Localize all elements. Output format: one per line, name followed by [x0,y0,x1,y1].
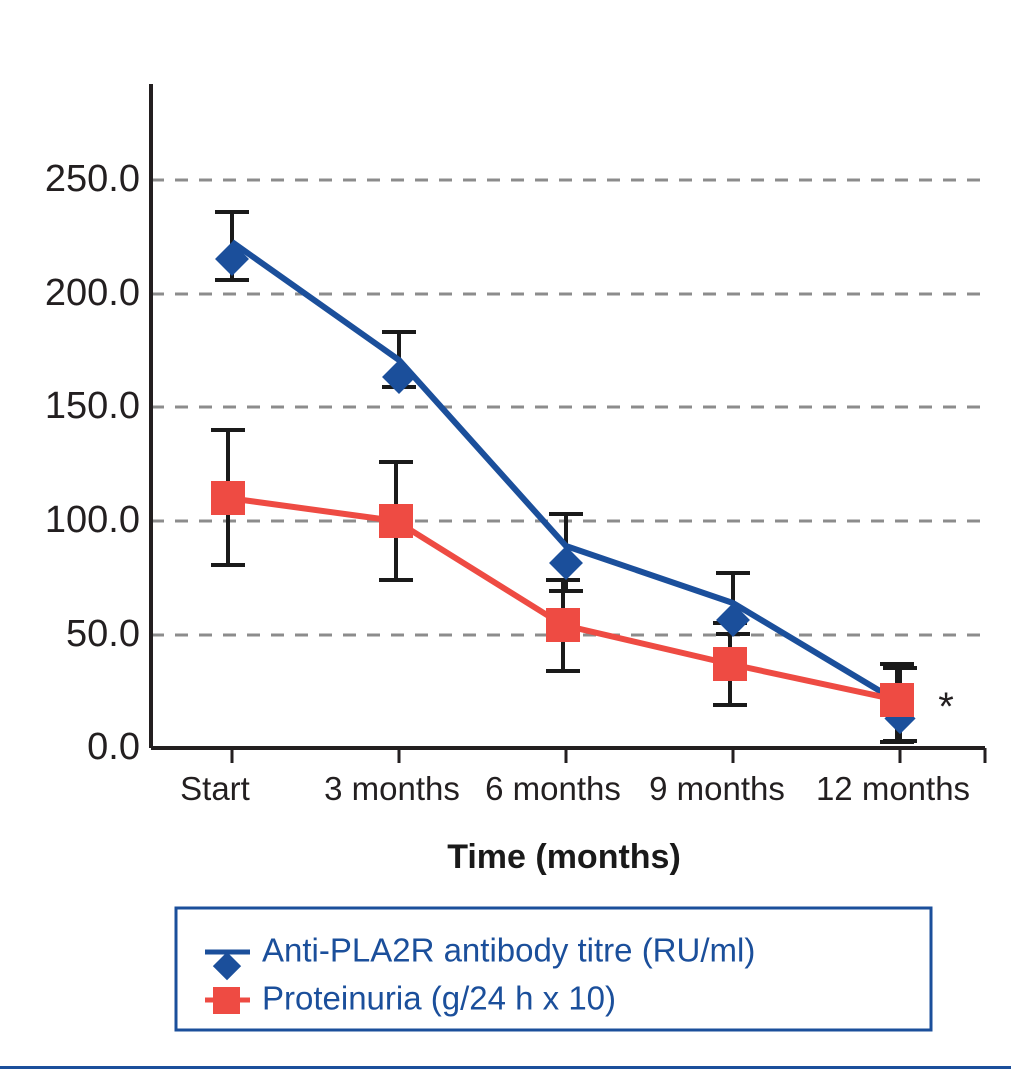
x-tick-label-12-months: 12 months [816,770,970,807]
legend-item-proteinuria[interactable]: Proteinuria (g/24 h x 10) [205,980,616,1017]
data-point-red-12-months[interactable] [880,683,914,717]
x-tick-label-9-months: 9 months [649,770,785,807]
legend-label-proteinuria: Proteinuria (g/24 h x 10) [262,980,616,1017]
chart-legend: Anti-PLA2R antibody titre (RU/ml) Protei… [176,908,931,1030]
series-markers-anti-pla2r [215,242,916,734]
x-tick-label-6-months: 6 months [485,770,621,807]
x-tick-label-start: Start [180,770,250,807]
y-axis-tick-labels: 250.0 200.0 150.0 100.0 50.0 0.0 [45,158,140,768]
significance-asterisk: * [938,685,954,729]
data-point-red-9-months[interactable] [713,647,747,681]
data-point-red-6-months[interactable] [546,608,580,642]
chart-figure: 250.0 200.0 150.0 100.0 50.0 0.0 [0,0,1011,1069]
y-tick-label-0: 0.0 [87,726,140,768]
x-tick-label-3-months: 3 months [324,770,460,807]
x-axis-title: Time (months) [447,838,681,876]
y-tick-label-250: 250.0 [45,158,140,200]
axis-lines [151,84,985,748]
legend-marker-square-icon [213,987,240,1014]
x-axis-tick-labels: Start 3 months 6 months 9 months 12 mont… [180,770,970,807]
x-tick-marks [232,748,985,763]
legend-label-anti-pla2r: Anti-PLA2R antibody titre (RU/ml) [262,932,755,969]
y-tick-label-100: 100.0 [45,499,140,541]
line-chart: 250.0 200.0 150.0 100.0 50.0 0.0 [0,0,1011,1069]
y-tick-label-50: 50.0 [66,613,140,655]
error-bars-anti-pla2r [215,212,917,741]
y-tick-label-150: 150.0 [45,385,140,427]
data-point-red-3-months[interactable] [379,504,413,538]
error-bars-proteinuria [211,430,914,742]
y-tick-label-200: 200.0 [45,272,140,314]
data-point-red-start[interactable] [211,481,245,515]
